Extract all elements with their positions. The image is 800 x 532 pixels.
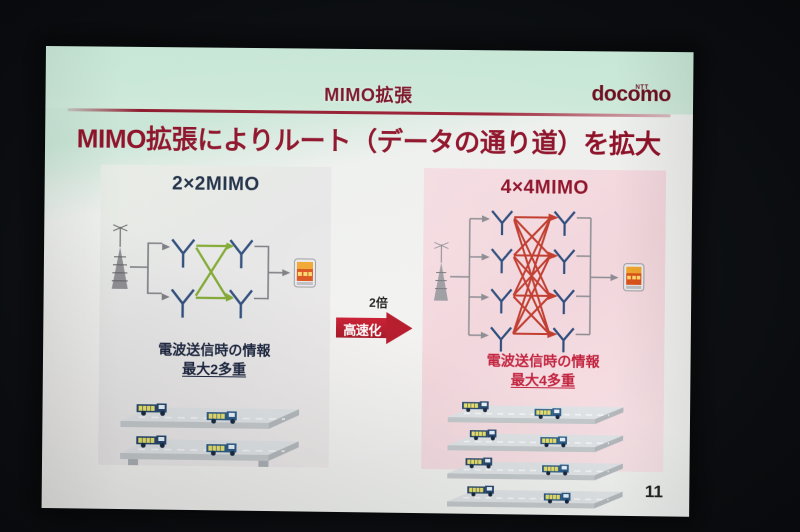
road-stack-4-levels xyxy=(421,387,664,511)
rx-arrow xyxy=(611,274,619,281)
smartphone-icon xyxy=(294,259,315,287)
road-level-4 xyxy=(447,485,623,509)
tx-antenna-group xyxy=(491,211,513,352)
panel-left-caption-line1: 電波送信時の情報 xyxy=(158,341,270,358)
panel-left-title: 2×2MIMO xyxy=(101,173,332,198)
panel-2x2-mimo: 2×2MIMO xyxy=(98,165,332,468)
road-level-3 xyxy=(447,457,623,481)
road-stack-2-levels xyxy=(98,387,329,468)
presentation-slide: MIMO拡張 NTT docomo MIMO拡張によりルート（データの通り道）を… xyxy=(42,46,694,517)
mimo-stream-arrowheads xyxy=(547,214,558,339)
mimo-4x4-diagram xyxy=(422,200,666,355)
rx-combiner-bracket xyxy=(254,246,283,298)
road-level-1 xyxy=(120,403,299,429)
rx-combiner-bracket xyxy=(576,218,611,335)
rx-antenna-group xyxy=(230,240,253,318)
docomo-logo: NTT docomo xyxy=(591,81,671,105)
slide-subtitle: MIMO拡張によりルート（データの通り道）を拡大 xyxy=(45,118,693,162)
road-level-1 xyxy=(448,401,624,425)
tx-splitter-bracket xyxy=(450,218,482,335)
panel-4x4-mimo: 4×4MIMO xyxy=(421,168,666,472)
tx-splitter-bracket xyxy=(130,243,163,293)
tx-arrow-1 xyxy=(162,243,170,250)
panel-right-caption-line1: 電波送信時の情報 xyxy=(487,352,600,369)
panel-right-caption-line2: 最大4多重 xyxy=(511,372,575,389)
speedup-arrow-shape: 高速化 xyxy=(334,312,423,343)
mimo-stream-links xyxy=(196,246,227,298)
rx-arrow xyxy=(282,269,290,276)
base-station-tower-icon xyxy=(112,225,129,289)
mimo-stream-links xyxy=(513,217,550,334)
panel-left-caption-line2: 最大2多重 xyxy=(182,361,246,378)
rx-antenna-group xyxy=(553,212,575,353)
tx-antenna-group xyxy=(172,239,195,317)
panel-left-caption: 電波送信時の情報 最大2多重 xyxy=(99,340,330,381)
speedup-multiplier-label: 2倍 xyxy=(334,293,423,311)
tx-arrow-2 xyxy=(162,293,170,300)
panel-right-caption: 電波送信時の情報 最大4多重 xyxy=(422,351,664,392)
speedup-arrow-block: 2倍 高速化 xyxy=(334,293,423,343)
road-level-2 xyxy=(120,435,299,467)
base-station-tower-icon xyxy=(434,242,449,300)
tx-arrowheads xyxy=(481,215,490,339)
arrow-head xyxy=(386,312,412,344)
panel-right-title: 4×4MIMO xyxy=(424,176,666,201)
smartphone-icon xyxy=(624,264,644,291)
mimo-2x2-diagram xyxy=(99,201,331,334)
speedup-arrow-text: 高速化 xyxy=(337,319,387,339)
road-level-2 xyxy=(448,429,624,453)
slide-page-number: 11 xyxy=(645,482,663,502)
logo-ntt-mark: NTT xyxy=(569,84,648,91)
